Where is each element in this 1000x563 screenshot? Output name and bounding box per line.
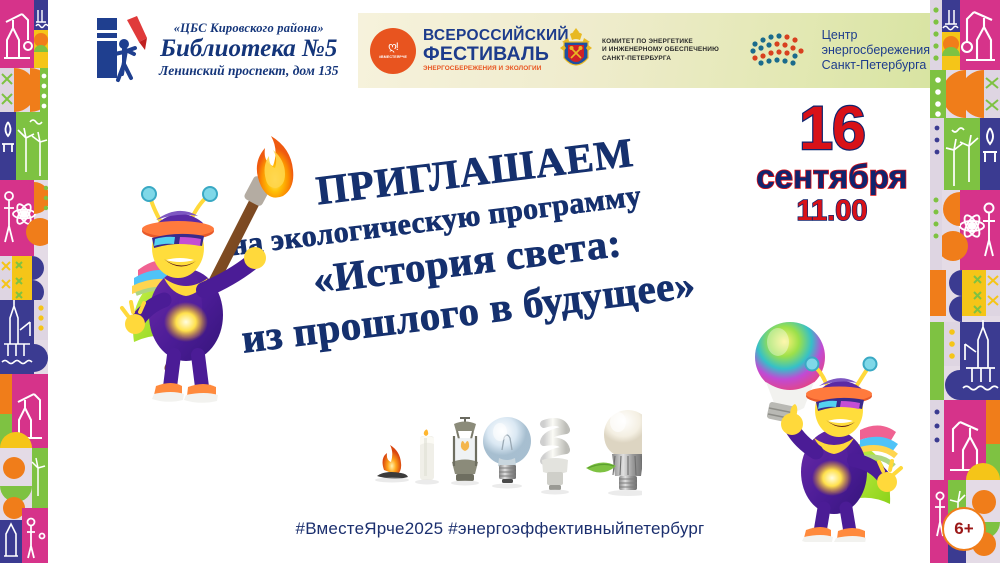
saint-petersburg-coat-of-arms-icon — [556, 26, 596, 76]
sneakers — [152, 383, 218, 403]
festival-line3: ЭНЕРГОСБЕРЕЖЕНИЯ И ЭКОЛОГИИ — [423, 66, 569, 72]
waving-hand — [122, 302, 145, 334]
age-rating-badge: 6+ — [942, 507, 986, 551]
candle-icon — [415, 430, 439, 485]
dot-matrix-logo-icon — [747, 30, 813, 72]
light-bulbs-icon: ღ! — [388, 42, 398, 53]
committee-line3: САНКТ-ПЕТЕРБУРГА — [602, 55, 719, 63]
kerosene-lantern-icon — [451, 418, 479, 486]
committee-logo: КОМИТЕТ ПО ЭНЕРГЕТИКЕ И ИНЖЕНЕРНОМУ ОБЕС… — [556, 26, 739, 76]
energy-center-logo: Центр энергосбережения Санкт-Петербурга — [739, 28, 930, 74]
hashtags: #ВместеЯрче2025 #энергоэффективныйпетерб… — [0, 519, 1000, 539]
festival-line1: ВСЕРОССИЙСКИЙ — [423, 28, 569, 44]
header-logo-band: «ЦБС Кировского района» Библиотека №5 Ле… — [48, 0, 930, 98]
right-decorative-border — [930, 0, 1000, 563]
compact-fluorescent-bulb-icon — [541, 422, 569, 495]
festival-line2: ФЕСТИВАЛЬ — [423, 45, 569, 65]
energy-center-line2: энергосбережения — [822, 43, 930, 58]
library-subtitle: «ЦБС Кировского района» — [159, 22, 339, 35]
campfire-icon — [375, 445, 409, 483]
energy-center-line1: Центр — [822, 28, 930, 43]
firefly-mascot-with-led-bulb — [742, 312, 927, 542]
library-address: Ленинский проспект, дом 135 — [159, 64, 339, 78]
poster-root: «ЦБС Кировского района» Библиотека №5 Ле… — [0, 0, 1000, 563]
festival-emblem-text: #ВМЕСТЕЯРЧЕ — [379, 55, 407, 59]
book-and-pencil-icon — [95, 14, 153, 86]
left-decorative-border — [0, 0, 48, 563]
waving-hand — [877, 461, 901, 492]
library-logo: «ЦБС Кировского района» Библиотека №5 Ле… — [95, 8, 350, 92]
committee-line1: КОМИТЕТ ПО ЭНЕРГЕТИКЕ — [602, 38, 719, 46]
rainbow-led-bulb-icon — [755, 322, 825, 424]
light-evolution-illustration — [372, 398, 642, 498]
library-name: Библиотека №5 — [159, 36, 339, 62]
incandescent-bulb-icon — [483, 417, 531, 489]
firefly-mascot-with-torch — [98, 100, 323, 405]
vmesteyarche-emblem-icon: ღ! #ВМЕСТЕЯРЧЕ — [370, 28, 416, 74]
committee-line2: И ИНЖЕНЕРНОМУ ОБЕСПЕЧЕНИЮ — [602, 46, 719, 54]
led-bulb-icon — [586, 410, 642, 496]
partner-logo-banner: ღ! #ВМЕСТЕЯРЧЕ ВСЕРОССИЙСКИЙ ФЕСТИВАЛЬ Э… — [358, 13, 930, 88]
festival-logo: ღ! #ВМЕСТЕЯРЧЕ ВСЕРОССИЙСКИЙ ФЕСТИВАЛЬ Э… — [358, 28, 556, 74]
energy-center-line3: Санкт-Петербурга — [822, 58, 930, 73]
